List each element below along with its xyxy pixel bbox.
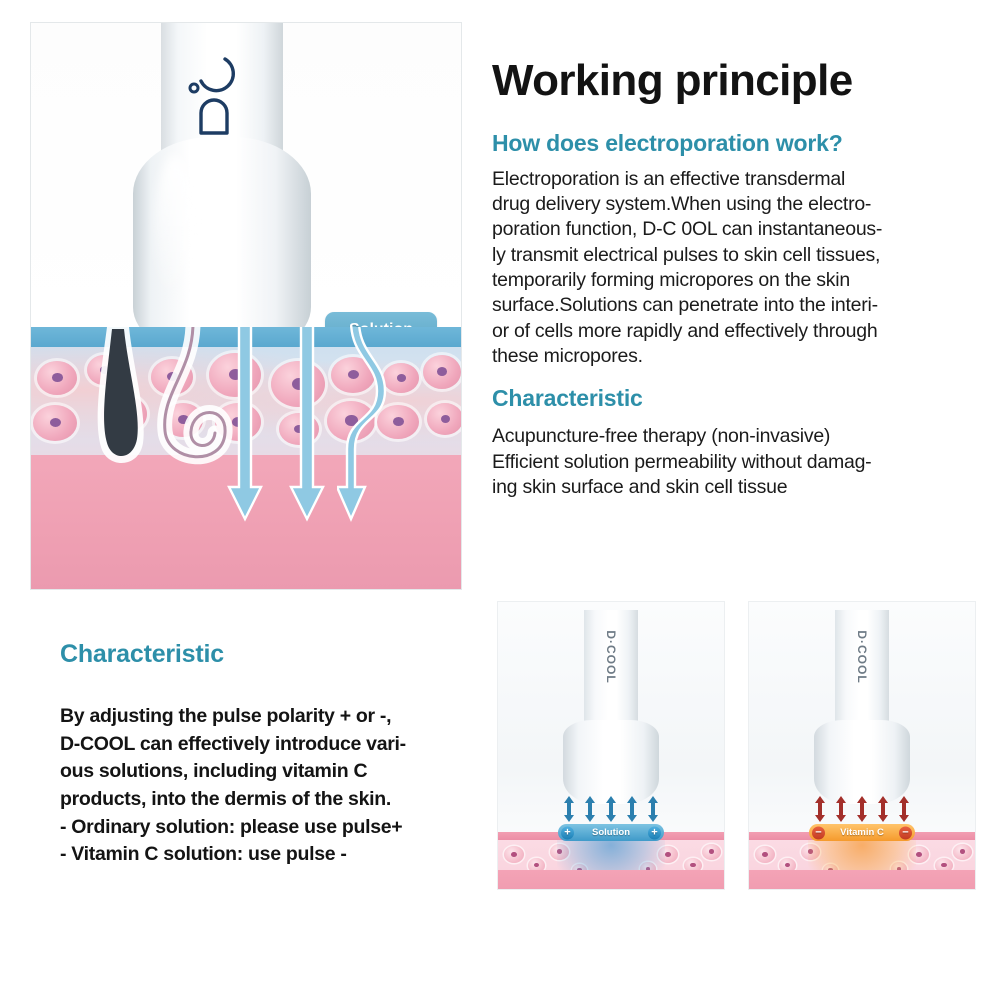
body-line: products, into the dermis of the skin. [60,786,480,814]
right-text-column: Working principle How does electroporati… [492,58,954,516]
device-bell-body [133,137,311,355]
polarity-chip-left: − [812,826,825,839]
body-line: these micropores. [492,344,954,369]
body-line: temporarily forming micropores on the sk… [492,268,954,293]
page-title: Working principle [492,58,954,104]
body-line: Electroporation is an effective transder… [492,167,954,192]
solution-bar-label: Solution [592,827,630,838]
vitamin-c-bar-label: Vitamin C [840,827,884,838]
polarity-chip-right: + [648,826,661,839]
body-line: By adjusting the pulse polarity + or -, [60,703,480,731]
device-skin-diagram: Solution [30,22,462,590]
bidirectional-arrows-red-icon [814,796,910,822]
body-line: surface.Solutions can penetrate into the… [492,293,954,318]
dcool-logo-icon [185,51,259,137]
photo-device-bell [814,720,910,804]
intercellular-arrow-icon [337,327,397,527]
section-heading-how-it-works: How does electroporation work? [492,130,954,156]
infographic-page: Solution [0,0,1000,1000]
photo-dermis [498,870,724,890]
section-body-how-it-works: Electroporation is an effective transder… [492,167,954,370]
body-line: ing skin surface and skin cell tissue [492,475,954,500]
body-line: ous solutions, including vitamin C [60,758,480,786]
body-line: ly transmit electrical pulses to skin ce… [492,243,954,268]
photo-dermis [749,870,975,890]
solution-bar: + Solution + [558,824,664,841]
photo-device-label: D·COOL [604,630,618,683]
skin-cross-section: Transappendageal Transcellular Intercell… [31,327,461,590]
body-line: poration function, D-C 0OL can instantan… [492,217,954,242]
photo-vitamin-c-negative: D·COOL − Vitamin C [748,601,976,890]
body-line: or of cells more rapidly and effectively… [492,319,954,344]
body-line: Efficient solution permeability without … [492,450,954,475]
body-line: D-COOL can effectively introduce vari- [60,731,480,759]
section-body-characteristic-left: By adjusting the pulse polarity + or -, … [60,703,480,869]
body-line: Acupuncture-free therapy (non-invasive) [492,424,954,449]
section-body-characteristic-right: Acupuncture-free therapy (non-invasive) … [492,424,954,500]
body-line: - Ordinary solution: please use pulse+ [60,814,480,842]
polarity-chip-left: + [561,826,574,839]
photo-device-bell [563,720,659,804]
bidirectional-arrows-blue-icon [563,796,659,822]
vitamin-c-bar: − Vitamin C − [809,824,915,841]
transcellular-arrow-icon [227,327,263,527]
section-heading-characteristic-left: Characteristic [60,640,480,669]
transcellular-arrow-icon-2 [289,327,325,527]
body-line: - Vitamin C solution: use pulse - [60,841,480,869]
polarity-chip-right: − [899,826,912,839]
section-heading-characteristic-right: Characteristic [492,385,954,412]
body-line: drug delivery system.When using the elec… [492,192,954,217]
bottom-left-characteristic: Characteristic By adjusting the pulse po… [60,640,480,869]
photo-device-label: D·COOL [855,630,869,683]
photo-solution-positive: D·COOL + Solution + [497,601,725,890]
